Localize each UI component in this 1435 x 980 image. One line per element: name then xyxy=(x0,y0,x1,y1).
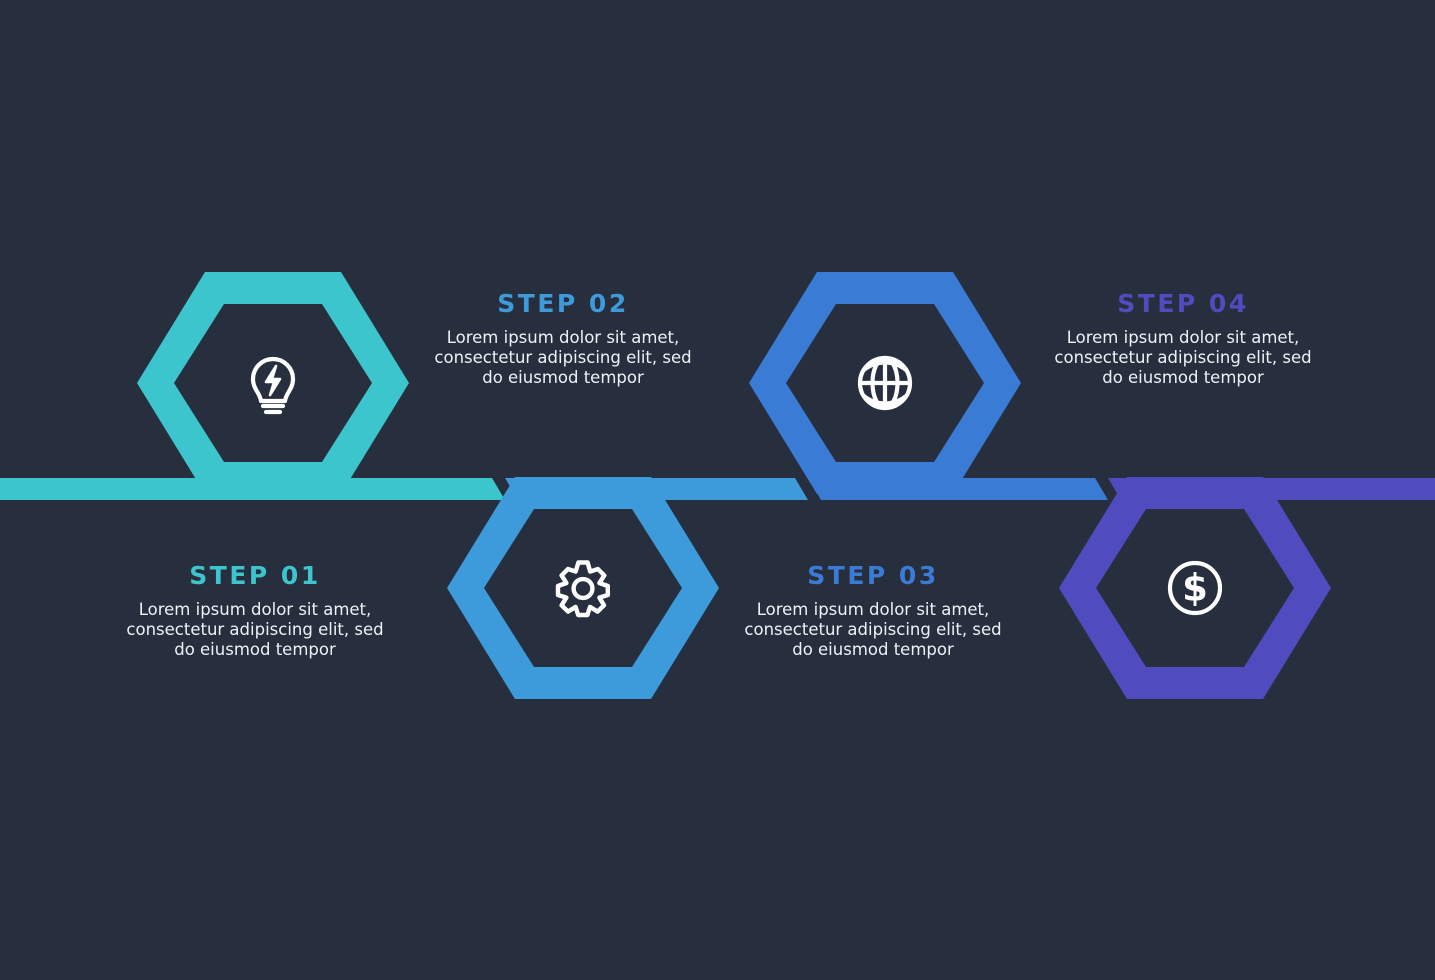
infographic-canvas: $ STEP 01 Lorem ipsum dolor sit amet, co… xyxy=(0,0,1435,980)
hexagon-step-03[interactable] xyxy=(749,272,1021,494)
step-title-03: STEP 03 xyxy=(738,562,1008,590)
hexagon-step-02[interactable] xyxy=(447,477,719,699)
step-body-01: Lorem ipsum dolor sit amet, consectetur … xyxy=(120,600,390,661)
text-block-step-02: STEP 02 Lorem ipsum dolor sit amet, cons… xyxy=(428,290,698,388)
step-title-02: STEP 02 xyxy=(428,290,698,318)
lightbulb-icon xyxy=(253,359,293,412)
svg-text:$: $ xyxy=(1182,567,1208,610)
step-body-02: Lorem ipsum dolor sit amet, consectetur … xyxy=(428,328,698,389)
hexagon-outline-step-02 xyxy=(447,477,719,699)
text-block-step-03: STEP 03 Lorem ipsum dolor sit amet, cons… xyxy=(738,562,1008,660)
step-body-04: Lorem ipsum dolor sit amet, consectetur … xyxy=(1048,328,1318,389)
step-title-04: STEP 04 xyxy=(1048,290,1318,318)
step-title-01: STEP 01 xyxy=(120,562,390,590)
dollar-circle-icon: $ xyxy=(1170,563,1220,613)
infographic-graphics: $ xyxy=(0,0,1435,980)
hexagon-step-04[interactable]: $ xyxy=(1059,477,1331,699)
text-block-step-01: STEP 01 Lorem ipsum dolor sit amet, cons… xyxy=(120,562,390,660)
step-body-03: Lorem ipsum dolor sit amet, consectetur … xyxy=(738,600,1008,661)
hexagon-step-01[interactable] xyxy=(137,272,409,494)
gear-icon xyxy=(558,563,608,616)
globe-icon xyxy=(860,358,910,408)
text-block-step-04: STEP 04 Lorem ipsum dolor sit amet, cons… xyxy=(1048,290,1318,388)
